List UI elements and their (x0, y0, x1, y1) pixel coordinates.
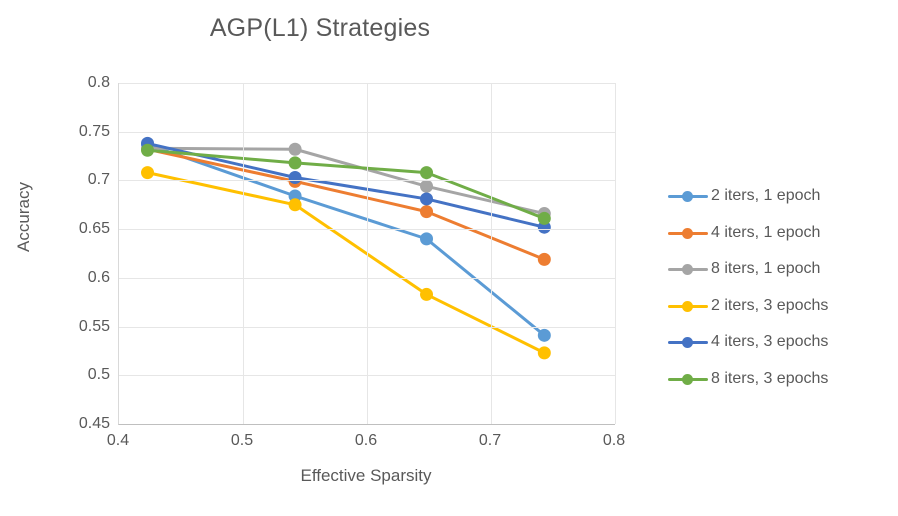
data-point (538, 253, 551, 266)
legend-label: 4 iters, 1 epoch (708, 224, 820, 242)
y-axis-title: Accuracy (14, 147, 34, 287)
x-axis-title: Effective Sparsity (118, 466, 614, 486)
chart-title: AGP(L1) Strategies (0, 14, 640, 43)
legend: 2 iters, 1 epoch4 iters, 1 epoch8 iters,… (668, 178, 894, 397)
data-point (420, 288, 433, 301)
legend-item[interactable]: 8 iters, 3 epochs (668, 361, 894, 398)
data-point (420, 166, 433, 179)
x-axis-tick-label: 0.7 (479, 432, 501, 450)
y-axis-tick-label: 0.65 (79, 220, 110, 238)
plot-area (118, 83, 615, 425)
y-axis-tick-label: 0.45 (79, 415, 110, 433)
legend-marker-icon (668, 373, 708, 385)
legend-label: 2 iters, 3 epochs (708, 297, 828, 315)
data-point (141, 166, 154, 179)
gridline-horizontal (119, 424, 615, 425)
y-axis-tick-label: 0.55 (79, 318, 110, 336)
legend-item[interactable]: 8 iters, 1 epoch (668, 251, 894, 288)
legend-marker-icon (668, 190, 708, 202)
chart-container: AGP(L1) Strategies Accuracy 0.80.750.70.… (0, 0, 898, 516)
legend-marker-icon (668, 336, 708, 348)
gridline-vertical (367, 83, 368, 424)
data-point (289, 171, 302, 184)
legend-label: 8 iters, 1 epoch (708, 260, 820, 278)
legend-item[interactable]: 2 iters, 3 epochs (668, 288, 894, 325)
data-point (538, 329, 551, 342)
y-axis-tick-label: 0.8 (88, 74, 110, 92)
data-point (420, 232, 433, 245)
y-axis-tick-label: 0.5 (88, 366, 110, 384)
x-axis-tick-label: 0.8 (603, 432, 625, 450)
legend-marker-icon (668, 227, 708, 239)
gridline-vertical (243, 83, 244, 424)
data-point (538, 346, 551, 359)
legend-label: 8 iters, 3 epochs (708, 370, 828, 388)
legend-item[interactable]: 4 iters, 1 epoch (668, 215, 894, 252)
data-point (141, 144, 154, 157)
y-axis-tick-labels: 0.80.750.70.650.60.550.50.45 (58, 83, 110, 424)
legend-label: 4 iters, 3 epochs (708, 333, 828, 351)
data-point (289, 156, 302, 169)
series-4-iters-1-epoch (141, 143, 551, 266)
y-axis-tick-label: 0.6 (88, 269, 110, 287)
data-point (289, 198, 302, 211)
legend-item[interactable]: 2 iters, 1 epoch (668, 178, 894, 215)
data-point (420, 192, 433, 205)
legend-item[interactable]: 4 iters, 3 epochs (668, 324, 894, 361)
y-axis-tick-label: 0.7 (88, 171, 110, 189)
x-axis-tick-label: 0.4 (107, 432, 129, 450)
gridline-vertical (615, 83, 616, 424)
data-point (538, 212, 551, 225)
gridline-vertical (491, 83, 492, 424)
x-axis-tick-label: 0.5 (231, 432, 253, 450)
legend-label: 2 iters, 1 epoch (708, 187, 820, 205)
data-point (420, 205, 433, 218)
x-axis-tick-labels: 0.40.50.60.70.8 (118, 432, 614, 458)
series-2-iters-3-epochs (141, 166, 551, 359)
y-axis-tick-label: 0.75 (79, 123, 110, 141)
data-point (289, 143, 302, 156)
data-point (420, 180, 433, 193)
x-axis-tick-label: 0.6 (355, 432, 377, 450)
legend-marker-icon (668, 263, 708, 275)
legend-marker-icon (668, 300, 708, 312)
